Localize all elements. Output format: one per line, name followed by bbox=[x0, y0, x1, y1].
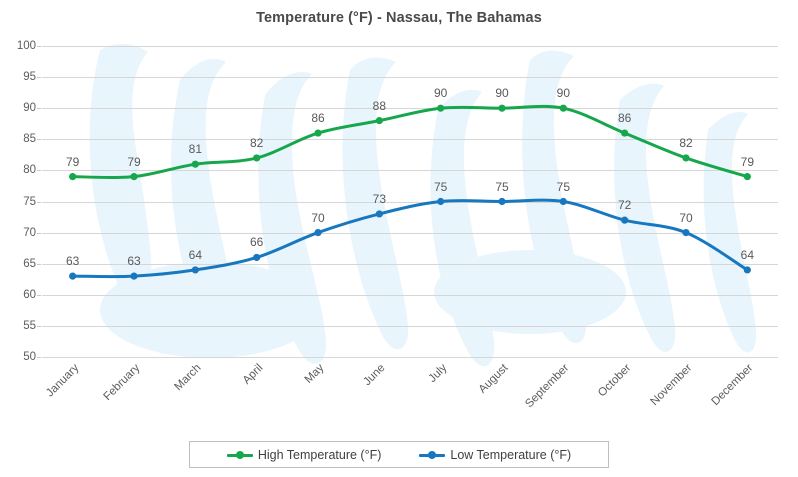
data-point[interactable] bbox=[314, 229, 321, 236]
data-point[interactable] bbox=[69, 173, 76, 180]
y-axis-tick bbox=[37, 326, 41, 327]
series-layer bbox=[42, 46, 778, 357]
data-label: 79 bbox=[127, 155, 140, 169]
data-point[interactable] bbox=[130, 273, 137, 280]
data-label: 64 bbox=[741, 248, 754, 262]
y-axis-label: 60 bbox=[23, 289, 36, 301]
y-axis-tick bbox=[37, 139, 41, 140]
temperature-line-chart: Temperature (°F) - Nassau, The Bahamas 1… bbox=[0, 0, 798, 477]
legend-entry[interactable]: High Temperature (°F) bbox=[227, 448, 382, 462]
data-point[interactable] bbox=[376, 117, 383, 124]
data-label: 88 bbox=[373, 99, 386, 113]
y-axis-label: 55 bbox=[23, 320, 36, 332]
data-label: 64 bbox=[189, 248, 202, 262]
data-point[interactable] bbox=[437, 105, 444, 112]
legend-marker-icon bbox=[227, 449, 253, 460]
y-axis-label: 100 bbox=[17, 40, 36, 52]
plot-area: 7979818286889090908682796363646670737575… bbox=[42, 46, 778, 357]
data-point[interactable] bbox=[437, 198, 444, 205]
legend-entry[interactable]: Low Temperature (°F) bbox=[419, 448, 571, 462]
data-label: 72 bbox=[618, 198, 631, 212]
data-point[interactable] bbox=[498, 105, 505, 112]
data-label: 73 bbox=[373, 192, 386, 206]
y-axis-label: 50 bbox=[23, 351, 36, 363]
data-point[interactable] bbox=[621, 217, 628, 224]
data-label: 79 bbox=[66, 155, 79, 169]
y-axis-label: 95 bbox=[23, 71, 36, 83]
data-point[interactable] bbox=[192, 161, 199, 168]
data-label: 82 bbox=[679, 136, 692, 150]
data-point[interactable] bbox=[498, 198, 505, 205]
y-axis-label: 90 bbox=[23, 102, 36, 114]
data-label: 82 bbox=[250, 136, 263, 150]
legend-label: High Temperature (°F) bbox=[258, 448, 382, 462]
series-line bbox=[73, 106, 748, 177]
data-point[interactable] bbox=[253, 154, 260, 161]
data-label: 86 bbox=[618, 111, 631, 125]
y-axis-tick bbox=[37, 357, 41, 358]
data-label: 90 bbox=[434, 86, 447, 100]
y-axis-label: 65 bbox=[23, 258, 36, 270]
data-point[interactable] bbox=[682, 229, 689, 236]
data-point[interactable] bbox=[130, 173, 137, 180]
y-axis-label: 85 bbox=[23, 133, 36, 145]
data-label: 86 bbox=[311, 111, 324, 125]
data-label: 75 bbox=[495, 180, 508, 194]
data-point[interactable] bbox=[192, 266, 199, 273]
y-axis: 10095908580757065605550 bbox=[0, 46, 36, 357]
data-point[interactable] bbox=[376, 210, 383, 217]
y-axis-tick bbox=[37, 202, 41, 203]
data-label: 79 bbox=[741, 155, 754, 169]
data-label: 63 bbox=[66, 254, 79, 268]
legend-marker-icon bbox=[419, 449, 445, 460]
data-label: 81 bbox=[189, 142, 202, 156]
y-axis-label: 75 bbox=[23, 196, 36, 208]
data-point[interactable] bbox=[560, 198, 567, 205]
y-axis-tick bbox=[37, 46, 41, 47]
data-point[interactable] bbox=[744, 266, 751, 273]
data-label: 70 bbox=[679, 211, 692, 225]
data-point[interactable] bbox=[744, 173, 751, 180]
chart-title: Temperature (°F) - Nassau, The Bahamas bbox=[0, 10, 798, 26]
y-axis-tick bbox=[37, 295, 41, 296]
series-line bbox=[73, 200, 748, 276]
data-label: 75 bbox=[434, 180, 447, 194]
data-label: 90 bbox=[557, 86, 570, 100]
data-point[interactable] bbox=[682, 154, 689, 161]
y-axis-tick bbox=[37, 170, 41, 171]
data-label: 90 bbox=[495, 86, 508, 100]
y-axis-tick bbox=[37, 77, 41, 78]
data-label: 75 bbox=[557, 180, 570, 194]
data-point[interactable] bbox=[314, 129, 321, 136]
y-axis-tick bbox=[37, 264, 41, 265]
legend-label: Low Temperature (°F) bbox=[450, 448, 571, 462]
x-axis: JanuaryFebruaryMarchAprilMayJuneJulyAugu… bbox=[42, 362, 778, 432]
y-axis-label: 70 bbox=[23, 227, 36, 239]
chart-legend: High Temperature (°F)Low Temperature (°F… bbox=[189, 441, 609, 468]
data-point[interactable] bbox=[253, 254, 260, 261]
y-axis-tick bbox=[37, 108, 41, 109]
gridline bbox=[42, 357, 778, 358]
data-label: 66 bbox=[250, 235, 263, 249]
data-label: 70 bbox=[311, 211, 324, 225]
data-label: 63 bbox=[127, 254, 140, 268]
y-axis-tick bbox=[37, 233, 41, 234]
data-point[interactable] bbox=[69, 273, 76, 280]
data-point[interactable] bbox=[621, 129, 628, 136]
y-axis-label: 80 bbox=[23, 164, 36, 176]
data-point[interactable] bbox=[560, 105, 567, 112]
